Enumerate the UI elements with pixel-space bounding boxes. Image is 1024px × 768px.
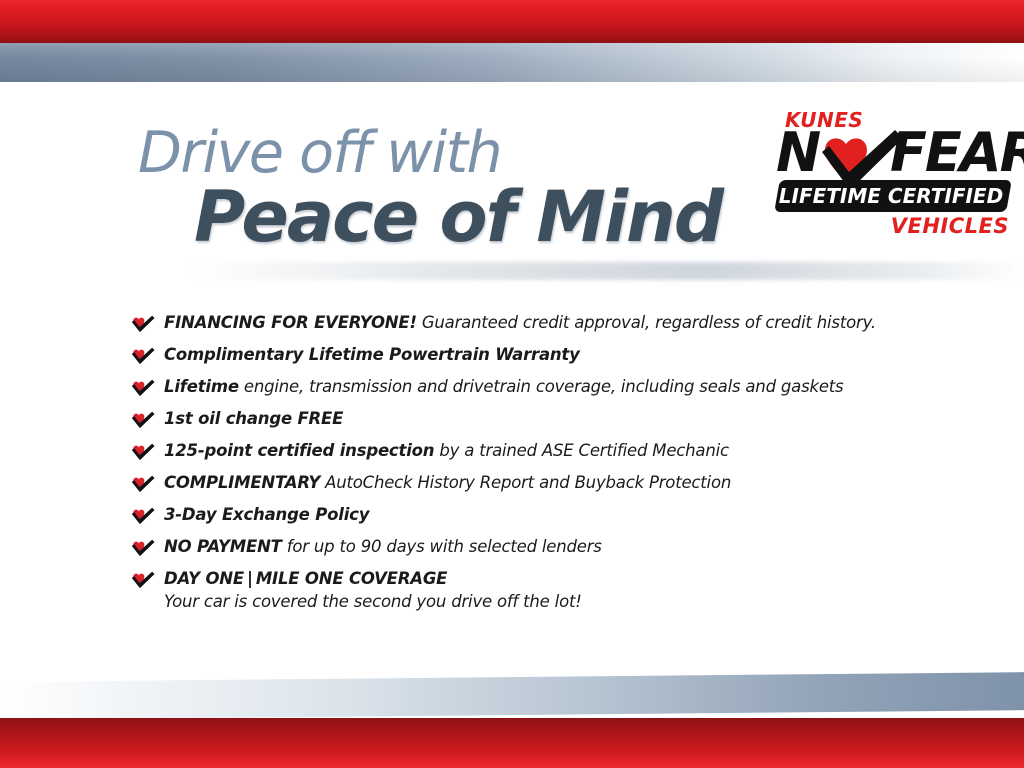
benefit-item-detail: for up to 90 days with selected lenders <box>282 537 602 556</box>
benefit-item-body: 1st oil change FREE <box>164 408 343 430</box>
logo-certified-bar-text: LIFETIME CERTIFIED <box>775 180 1007 212</box>
heart-check-icon <box>131 378 155 398</box>
heart-check-icon <box>131 570 155 590</box>
benefit-item-headline: NO PAYMENT <box>164 537 282 556</box>
benefit-item: DAY ONE|MILE ONE COVERAGEYour car is cov… <box>131 568 961 614</box>
benefit-item-headline: 3-Day Exchange Policy <box>164 505 369 524</box>
benefit-item-body: 125-point certified inspection by a trai… <box>164 440 729 462</box>
logo-letter-n: N <box>776 126 819 180</box>
logo-word-fear: FEAR <box>890 126 1024 180</box>
heart-check-icon <box>131 474 155 494</box>
bottom-gray-band <box>0 672 1024 720</box>
benefit-item-separator: | <box>244 569 256 588</box>
heart-check-icon <box>131 314 155 334</box>
benefit-item: NO PAYMENT for up to 90 days with select… <box>131 536 961 558</box>
benefit-item-body: Lifetime engine, transmission and drivet… <box>164 376 843 398</box>
benefit-item-body: DAY ONE|MILE ONE COVERAGEYour car is cov… <box>164 568 582 614</box>
benefit-item-body: NO PAYMENT for up to 90 days with select… <box>164 536 602 558</box>
benefit-item-body: COMPLIMENTARY AutoCheck History Report a… <box>164 472 731 494</box>
headline-block: Drive off with Peace of Mind <box>138 122 758 254</box>
benefit-item-headline: DAY ONE <box>164 569 244 588</box>
benefit-item-headline: 125-point certified inspection <box>164 441 434 460</box>
heart-check-icon <box>131 538 155 558</box>
heart-check-icon <box>131 346 155 366</box>
benefit-item-detail: by a trained ASE Certified Mechanic <box>434 441 729 460</box>
benefit-item: COMPLIMENTARY AutoCheck History Report a… <box>131 472 961 494</box>
heart-check-icon <box>131 506 155 526</box>
heart-check-icon <box>131 442 155 462</box>
benefit-item: 3-Day Exchange Policy <box>131 504 961 526</box>
benefit-item-headline-2: MILE ONE COVERAGE <box>256 569 447 588</box>
benefit-item-detail: AutoCheck History Report and Buyback Pro… <box>320 473 731 492</box>
heart-check-icon <box>131 442 155 462</box>
benefit-item-text: COMPLIMENTARY AutoCheck History Report a… <box>164 472 731 494</box>
heart-check-icon <box>131 378 155 398</box>
benefit-item-body: FINANCING FOR EVERYONE! Guaranteed credi… <box>164 312 876 334</box>
heart-check-icon <box>131 538 155 558</box>
benefit-item-text: 1st oil change FREE <box>164 408 343 430</box>
benefit-item-text: NO PAYMENT for up to 90 days with select… <box>164 536 602 558</box>
benefit-item-text: Lifetime engine, transmission and drivet… <box>164 376 843 398</box>
kunes-no-fear-logo: KUNES N FEAR LIFETIME CERTIFIED VEHICLES <box>775 108 1015 250</box>
headline-divider <box>190 262 1024 280</box>
benefit-item-headline: 1st oil change FREE <box>164 409 343 428</box>
heart-check-icon <box>131 410 155 430</box>
logo-word-vehicles: VEHICLES <box>891 214 1009 238</box>
benefit-item: 125-point certified inspection by a trai… <box>131 440 961 462</box>
advertisement-canvas: Drive off with Peace of Mind KUNES N FEA… <box>0 0 1024 768</box>
benefit-item-headline: COMPLIMENTARY <box>164 473 320 492</box>
top-gray-band <box>0 43 1024 82</box>
benefit-item-subline: Your car is covered the second you drive… <box>164 590 582 614</box>
benefit-item-text: FINANCING FOR EVERYONE! Guaranteed credi… <box>164 312 876 334</box>
benefit-item: Complimentary Lifetime Powertrain Warran… <box>131 344 961 366</box>
benefit-item-body: 3-Day Exchange Policy <box>164 504 369 526</box>
benefit-item-detail: engine, transmission and drivetrain cove… <box>239 377 844 396</box>
benefit-item-headline: Lifetime <box>164 377 239 396</box>
headline-line-1: Drive off with <box>138 122 758 184</box>
heart-check-icon <box>131 346 155 366</box>
top-red-band <box>0 0 1024 43</box>
heart-check-icon <box>131 410 155 430</box>
heart-check-icon <box>131 506 155 526</box>
logo-wordmark: N FEAR <box>775 126 1015 182</box>
benefit-item-text: Complimentary Lifetime Powertrain Warran… <box>164 344 580 366</box>
heart-check-icon <box>131 474 155 494</box>
benefit-item-text: 3-Day Exchange Policy <box>164 504 369 526</box>
benefit-item-body: Complimentary Lifetime Powertrain Warran… <box>164 344 580 366</box>
benefit-item: Lifetime engine, transmission and drivet… <box>131 376 961 398</box>
benefit-item-headline: Complimentary Lifetime Powertrain Warran… <box>164 345 580 364</box>
benefit-item-headline: FINANCING FOR EVERYONE! <box>164 313 417 332</box>
benefits-list: FINANCING FOR EVERYONE! Guaranteed credi… <box>131 312 961 624</box>
benefit-item-text: 125-point certified inspection by a trai… <box>164 440 729 462</box>
headline-line-2: Peace of Mind <box>194 180 758 254</box>
heart-check-icon <box>131 570 155 590</box>
benefit-item-detail: Guaranteed credit approval, regardless o… <box>417 313 876 332</box>
bottom-red-band <box>0 718 1024 768</box>
benefit-item: FINANCING FOR EVERYONE! Guaranteed credi… <box>131 312 961 334</box>
benefit-item: 1st oil change FREE <box>131 408 961 430</box>
benefit-item-text: DAY ONE|MILE ONE COVERAGE <box>164 568 582 590</box>
heart-check-icon <box>131 314 155 334</box>
